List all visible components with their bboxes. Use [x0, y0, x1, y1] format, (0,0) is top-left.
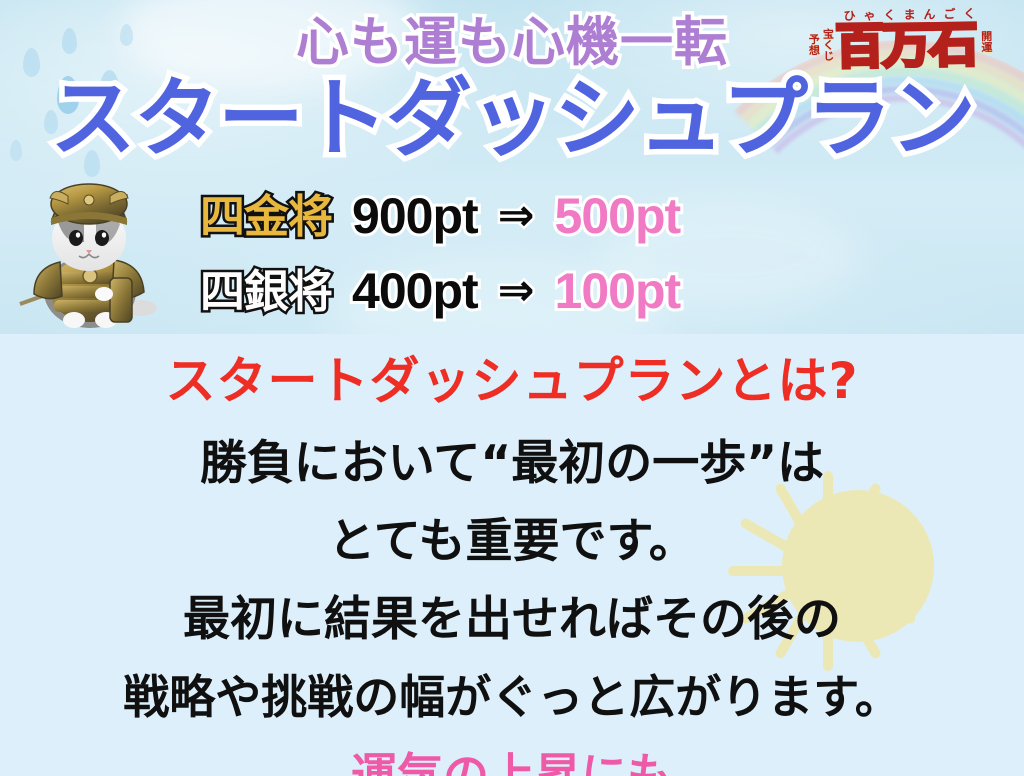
- rank-label-gold: 四金将: [200, 194, 332, 239]
- logo-furigana-char: ゃ: [863, 6, 875, 23]
- poster-root: 心も運も心機一転 予想 宝くじ 百万石 開運 ひ ゃ く ま ん ご く スター…: [0, 0, 1024, 776]
- logo-side-end: 開運: [979, 30, 991, 52]
- body-text-line-partial: 運気の上昇にも: [0, 750, 1024, 776]
- logo-furigana-char: く: [883, 6, 895, 23]
- body-text-line: とても重要です。: [0, 516, 1024, 569]
- old-price-silver: 400pt: [352, 266, 478, 316]
- price-row-silver: 四銀将 400pt ⇒ 100pt: [200, 261, 840, 321]
- logo-main-text: 百万石: [835, 21, 977, 71]
- logo-furigana: ひ ゃ く ま ん ご く: [839, 5, 979, 24]
- logo-furigana-char: ん: [923, 5, 935, 22]
- arrow-icon: ⇒: [498, 269, 535, 313]
- arrow-icon: ⇒: [498, 194, 535, 238]
- body-text-line: 戦略や挑戦の幅がぐっと広がります。: [0, 672, 1024, 724]
- old-price-gold: 900pt: [352, 191, 478, 241]
- price-row-gold: 四金将 900pt ⇒ 500pt: [200, 186, 840, 246]
- section-headline: スタートダッシュプランとは?: [0, 354, 1024, 409]
- new-price-silver: 100pt: [555, 266, 681, 316]
- logo-furigana-char: ひ: [843, 7, 855, 24]
- rank-label-silver: 四銀将: [200, 269, 332, 314]
- logo-side-left: 予想: [807, 33, 819, 55]
- body-text-line: 勝負において“最初の一歩”は: [0, 438, 1024, 491]
- logo-furigana-char: ご: [943, 5, 955, 22]
- logo-side-right: 宝くじ: [821, 28, 833, 61]
- header-subtitle: 心も運も心機一転: [296, 16, 728, 69]
- logo-furigana-char: く: [963, 5, 975, 22]
- new-price-gold: 500pt: [555, 191, 681, 241]
- body-section: スタートダッシュプランとは? 勝負において“最初の一歩”は とても重要です。 最…: [0, 334, 1024, 776]
- page-title: スタートダッシュプラン: [0, 76, 1024, 162]
- body-text-line: 最初に結果を出せればその後の: [0, 594, 1024, 647]
- samurai-cat-mascot: [18, 180, 168, 332]
- header-banner: 心も運も心機一転 予想 宝くじ 百万石 開運 ひ ゃ く ま ん ご く スター…: [0, 0, 1024, 334]
- logo-furigana-char: ま: [903, 6, 915, 23]
